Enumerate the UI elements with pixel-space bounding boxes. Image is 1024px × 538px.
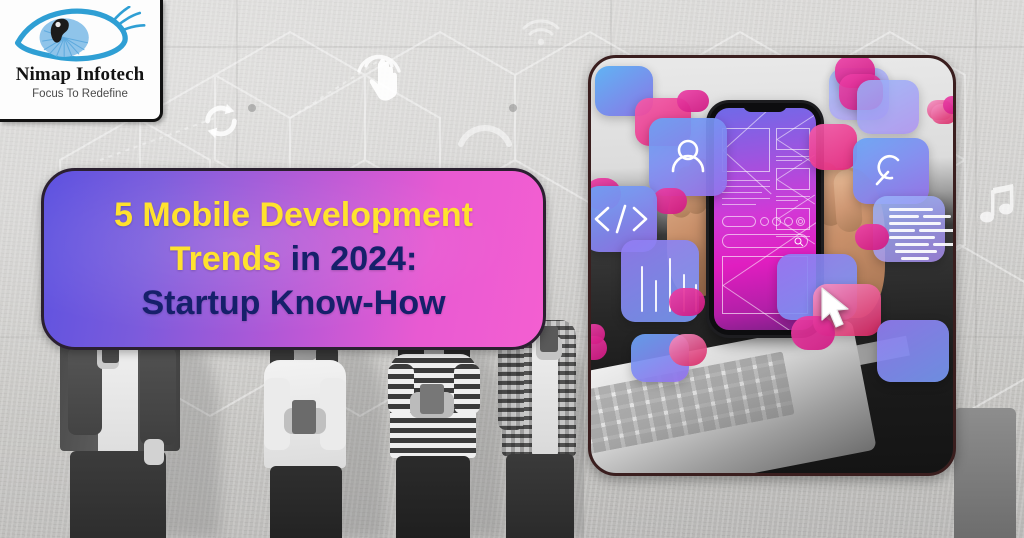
- tile-violet-accent: [877, 320, 949, 382]
- user-icon: [666, 135, 710, 179]
- music-note-icon: [977, 182, 1019, 226]
- search-icon: [868, 150, 914, 192]
- wireframe-box: [722, 128, 770, 172]
- headline-line-3: Startup Know-How: [141, 281, 445, 325]
- people-photo-strip-right: [950, 388, 1024, 538]
- headline-highlight-2: Trends: [170, 240, 281, 278]
- tile-pink-accent: [855, 224, 889, 250]
- headline-line-2: Trends in 2024:: [170, 237, 418, 281]
- person-5: [950, 388, 1024, 538]
- tile-pink-accent: [809, 124, 857, 170]
- network-arc-icon: [455, 100, 515, 160]
- tile-pink-accent: [677, 90, 709, 112]
- tap-gesture-icon: [350, 40, 408, 110]
- sync-refresh-icon: [198, 98, 244, 144]
- wifi-signal-icon: [520, 12, 562, 48]
- wireframe-box: [776, 208, 810, 230]
- laptop-keyboard: [588, 351, 795, 456]
- tile-violet-accent: [857, 80, 919, 134]
- wireframe-box: [776, 128, 810, 150]
- code-icon: [592, 202, 650, 236]
- tile-search-magnifier: [853, 138, 929, 204]
- logo-company-name: Nimap Infotech: [16, 65, 145, 84]
- logo-tagline: Focus To Redefine: [32, 89, 128, 101]
- logo-card[interactable]: Nimap Infotech Focus To Redefine: [0, 0, 163, 122]
- hero-image-panel: [588, 55, 956, 476]
- document-icon: [889, 206, 956, 262]
- banner-canvas: Nimap Infotech Focus To Redefine 5 Mobil…: [0, 0, 1024, 538]
- tile-pink-accent: [669, 288, 705, 316]
- headline-text-3: Startup Know-How: [141, 284, 445, 322]
- cursor-icon: [819, 286, 855, 332]
- tile-pink-accent: [653, 188, 687, 214]
- wireframe-pill: [722, 216, 756, 227]
- headline-rest-2: in 2024:: [281, 240, 417, 278]
- headline-line-1: 5 Mobile Development: [114, 193, 473, 237]
- tile-pink-accent: [669, 334, 707, 366]
- headline-pill: 5 Mobile Development Trends in 2024: Sta…: [41, 168, 546, 350]
- search-icon: [794, 237, 804, 247]
- person-1: [40, 323, 200, 538]
- tile-pink-accent: [943, 96, 956, 114]
- headline-highlight-1: 5 Mobile Development: [114, 196, 473, 234]
- tile-user-profile: [649, 118, 727, 196]
- nimap-eye-logo-icon: [14, 6, 146, 64]
- phone-notch: [743, 103, 787, 112]
- wireframe-box: [776, 168, 810, 190]
